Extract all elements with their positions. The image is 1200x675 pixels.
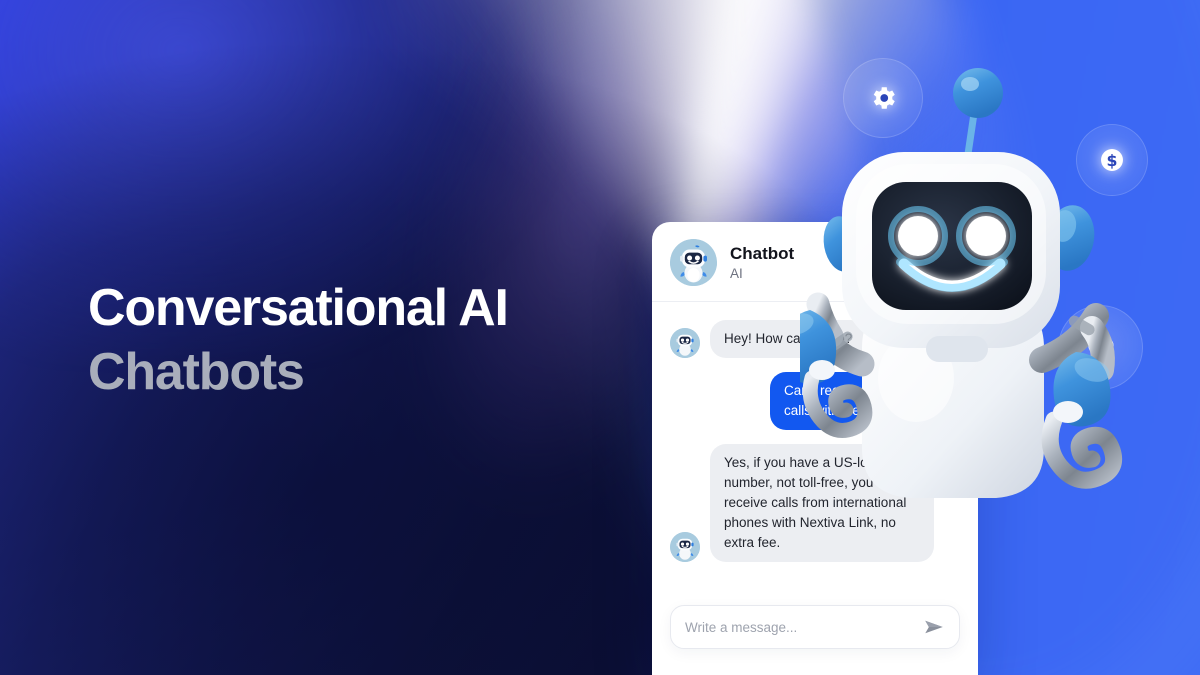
- hero-banner: Conversational AI Chatbots: [0, 0, 1200, 675]
- chat-subtitle: AI: [730, 265, 794, 283]
- chat-header-text: Chatbot AI: [730, 243, 794, 283]
- robot-avatar-icon: [670, 328, 700, 358]
- send-paper-plane-icon[interactable]: [923, 616, 945, 638]
- composer: [670, 605, 960, 649]
- page-title: Conversational AI Chatbots: [88, 276, 648, 404]
- title-line-1: Conversational AI: [88, 276, 648, 340]
- robot-avatar-icon: [670, 239, 717, 286]
- title-line-2: Chatbots: [88, 340, 648, 404]
- robot-avatar-icon: [670, 532, 700, 562]
- composer-box[interactable]: [670, 605, 960, 649]
- chat-title: Chatbot: [730, 243, 794, 264]
- robot-mascot: [800, 48, 1130, 568]
- message-input[interactable]: [685, 620, 923, 635]
